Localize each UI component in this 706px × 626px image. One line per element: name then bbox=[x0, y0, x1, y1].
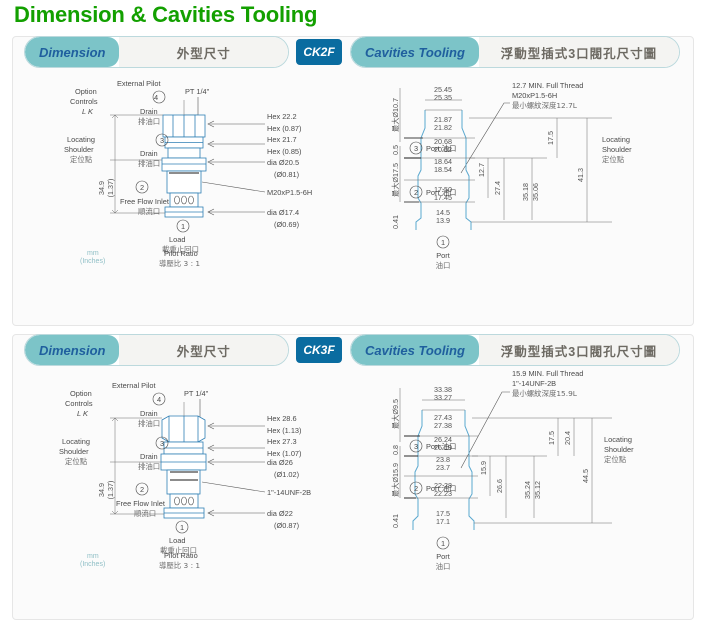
cav2-left-label-3: 0.41 bbox=[391, 514, 400, 528]
cav-port1-number: 1 bbox=[441, 238, 445, 247]
cav2-depth-6: 44.5 bbox=[581, 469, 590, 483]
port3-number: 3 bbox=[160, 136, 164, 145]
cav-locating-cn: 定位點 bbox=[602, 155, 625, 164]
cav2-locating-en-2: Shoulder bbox=[604, 445, 634, 454]
port2-number-2: 2 bbox=[140, 485, 144, 494]
port4-en-label: Drain bbox=[140, 107, 158, 116]
cav-left-label-0: 最大Ø10.7 bbox=[391, 98, 400, 132]
right-label-8-2: (Ø0.87) bbox=[274, 521, 299, 530]
tab-dimension-en-1[interactable]: Dimension bbox=[25, 37, 119, 67]
tabbar-ck2f: Dimension 外型尺寸 CK2F Cavities Tooling 浮動型… bbox=[12, 36, 694, 70]
dimension-drawing-ck2f: External Pilot 4 Drain 排油口 PT 1/4" bbox=[64, 79, 312, 268]
thread-note-2-2: 1"-14UNF-2B bbox=[512, 379, 556, 388]
valve-body-ck3f bbox=[161, 402, 206, 518]
cav-left-label-1: 0.5 bbox=[391, 145, 400, 155]
unit-mm-label: mm bbox=[87, 250, 99, 257]
cav-depth-0: 12.7 bbox=[477, 163, 486, 177]
cav2-port3-number: 3 bbox=[414, 442, 418, 451]
port4-number: 4 bbox=[154, 93, 158, 102]
pt-thread-label-2: PT 1/4" bbox=[184, 389, 209, 398]
right-label-4: dia Ø20.5 bbox=[267, 158, 299, 167]
right-label-6-2: 1"-14UNF-2B bbox=[267, 488, 311, 497]
cav2-width-4b: 22.23 bbox=[434, 489, 452, 498]
cav-port1-cn: 油口 bbox=[436, 261, 451, 270]
cav2-locating-en-1: Locating bbox=[604, 435, 632, 444]
cav2-width-1b: 27.38 bbox=[434, 421, 452, 430]
right-label-5-2: (Ø1.02) bbox=[274, 470, 299, 479]
cav2-depth-1: 26.6 bbox=[495, 479, 504, 493]
cav2-locating-cn: 定位點 bbox=[604, 455, 627, 464]
port2-en-label: Free Flow Inlet bbox=[120, 197, 169, 206]
locating-label-2: Shoulder bbox=[64, 145, 94, 154]
cav2-depth-3: 35.12 bbox=[533, 481, 542, 499]
port3-en-label: Drain bbox=[140, 149, 158, 158]
right-label-2: Hex 21.7 bbox=[267, 135, 297, 144]
cav-locating-en-1: Locating bbox=[602, 135, 630, 144]
drawing-svg-ck2f: External Pilot 4 Drain 排油口 PT 1/4" bbox=[12, 70, 694, 322]
cav-width-1b: 21.82 bbox=[434, 123, 452, 132]
tab-dimension-cn-1[interactable]: 外型尺寸 bbox=[119, 37, 288, 67]
tab-cavities-cn-1[interactable]: 浮動型插式3口閥孔尺寸圖 bbox=[479, 37, 679, 67]
pilot-ratio-cn: 導壓比 3 : 1 bbox=[159, 259, 200, 268]
tab-dimension-en-2[interactable]: Dimension bbox=[25, 335, 119, 365]
cav2-depth-5: 20.4 bbox=[563, 431, 572, 445]
cav-depth-5: 41.3 bbox=[576, 168, 585, 182]
pilot-ratio-en-2: Pilot Ratio bbox=[164, 551, 198, 560]
model-badge-ck3f[interactable]: CK3F bbox=[296, 337, 342, 363]
cav-port3-number: 3 bbox=[414, 144, 418, 153]
cav2-port1-cn: 油口 bbox=[436, 562, 451, 571]
cav-width-4b: 17.45 bbox=[434, 193, 452, 202]
right-label-0: Hex 22.2 bbox=[267, 112, 297, 121]
page-title: Dimension & Cavities Tooling bbox=[14, 2, 317, 28]
right-label-8: (Ø0.69) bbox=[274, 220, 299, 229]
cav2-depth-0: 15.9 bbox=[479, 461, 488, 475]
height-mm-label-2: 34.9 bbox=[97, 483, 106, 497]
cav2-port2-number: 2 bbox=[414, 484, 418, 493]
port4-cn-label-2: 排油口 bbox=[138, 419, 160, 428]
option-label-1: Option bbox=[75, 87, 97, 96]
port1-number: 1 bbox=[181, 222, 185, 231]
thread-section-2 bbox=[167, 470, 200, 494]
port1-number-2: 1 bbox=[180, 523, 184, 532]
shoulder-ring bbox=[162, 158, 206, 171]
port4-en-label-2: Drain bbox=[140, 409, 158, 418]
right-label-6: M20xP1.5-6H bbox=[267, 188, 312, 197]
port2-cn-label: 順流口 bbox=[138, 207, 160, 216]
locating-label-1-2: Locating bbox=[62, 437, 90, 446]
cav2-left-label-2: 最大Ø15.9 bbox=[391, 463, 400, 497]
right-label-5: (Ø0.81) bbox=[274, 170, 299, 179]
hex-nut-top-2 bbox=[162, 416, 205, 442]
port4-number-2: 4 bbox=[157, 395, 161, 404]
height-mm-label: 34.9 bbox=[97, 181, 106, 195]
tab-dimension-group-2[interactable]: Dimension 外型尺寸 bbox=[24, 334, 289, 366]
option-label-2-2: Controls bbox=[65, 399, 93, 408]
cav2-left-label-0: 最大Ø9.5 bbox=[391, 399, 400, 429]
right-label-0-2: Hex 28.6 bbox=[267, 414, 297, 423]
option-label-1-2: Option bbox=[70, 389, 92, 398]
cav-width-3b: 18.54 bbox=[434, 165, 452, 174]
right-label-7-2: dia Ø22 bbox=[267, 509, 293, 518]
cav-width-5b: 13.9 bbox=[436, 216, 450, 225]
thread-note-1-2: 15.9 MIN. Full Thread bbox=[512, 369, 583, 378]
option-label-2: Controls bbox=[70, 97, 98, 106]
locating-label-cn-2: 定位點 bbox=[65, 457, 88, 466]
right-label-1-2: Hex (1.13) bbox=[267, 426, 302, 435]
cav2-width-3b: 23.7 bbox=[436, 463, 450, 472]
tab-cavities-group-2[interactable]: Cavities Tooling 浮動型插式3口閥孔尺寸圖 bbox=[350, 334, 680, 366]
cav-width-2b: 20.62 bbox=[434, 145, 452, 154]
right-label-3-2: Hex (1.07) bbox=[267, 449, 302, 458]
cav2-width-5b: 17.1 bbox=[436, 517, 450, 526]
right-label-4-2: dia Ø26 bbox=[267, 458, 293, 467]
drawing-area-ck3f: External Pilot 4 Drain 排油口 PT 1/4" bbox=[12, 368, 694, 620]
thread-note-3: 最小螺紋深度12.7L bbox=[512, 101, 578, 110]
cav-width-0b: 25.35 bbox=[434, 93, 452, 102]
cav2-left-label-1: 0.8 bbox=[391, 445, 400, 455]
cav2-depth-4: 17.5 bbox=[547, 431, 556, 445]
unit-in-label-2: (Inches) bbox=[80, 561, 105, 568]
tab-cavities-en-2[interactable]: Cavities Tooling bbox=[351, 335, 479, 365]
cav2-width-2b: 26.19 bbox=[434, 443, 452, 452]
model-badge-ck2f[interactable]: CK2F bbox=[296, 39, 342, 65]
thread-leader-line-2 bbox=[461, 392, 510, 468]
port2-cn-label-2: 順流口 bbox=[134, 509, 156, 518]
cav-left-label-3: 0.41 bbox=[391, 215, 400, 229]
thread-section bbox=[167, 171, 201, 193]
locating-label-1: Locating bbox=[67, 135, 95, 144]
port3-cn-label: 排油口 bbox=[138, 159, 160, 168]
port3-number-2: 3 bbox=[160, 439, 164, 448]
port2-number: 2 bbox=[140, 183, 144, 192]
cav-left-label-2: 最大Ø17.5 bbox=[391, 163, 400, 197]
port1-en-label-2: Load bbox=[169, 536, 185, 545]
tab-cavities-en-1[interactable]: Cavities Tooling bbox=[351, 37, 479, 67]
cav-locating-en-2: Shoulder bbox=[602, 145, 632, 154]
cav-depth-3: 35.06 bbox=[531, 183, 540, 201]
pilot-ratio-en: Pilot Ratio bbox=[164, 249, 198, 258]
drawing-svg-ck3f: External Pilot 4 Drain 排油口 PT 1/4" bbox=[12, 368, 694, 620]
tab-dimension-group-1[interactable]: Dimension 外型尺寸 bbox=[24, 36, 289, 68]
cavity-drawing-ck2f: 12.7 MIN. Full Thread M20xP1.5-6H 最小螺紋深度… bbox=[391, 81, 632, 270]
option-label-3-2: L K bbox=[77, 409, 89, 418]
pt-thread-label: PT 1/4" bbox=[185, 87, 210, 96]
cav2-port1-en: Port bbox=[436, 552, 450, 561]
neck-1 bbox=[168, 148, 200, 158]
tab-dimension-cn-2[interactable]: 外型尺寸 bbox=[119, 335, 288, 365]
unit-in-label: (Inches) bbox=[80, 258, 105, 265]
cav-depth-1: 27.4 bbox=[493, 181, 502, 195]
tab-cavities-group-1[interactable]: Cavities Tooling 浮動型插式3口閥孔尺寸圖 bbox=[350, 36, 680, 68]
drawing-area-ck2f: External Pilot 4 Drain 排油口 PT 1/4" bbox=[12, 70, 694, 322]
tab-cavities-cn-2[interactable]: 浮動型插式3口閥孔尺寸圖 bbox=[479, 335, 679, 365]
cav-depth-2: 35.18 bbox=[521, 183, 530, 201]
right-label-1: Hex (0.87) bbox=[267, 124, 302, 133]
right-label-7: dia Ø17.4 bbox=[267, 208, 299, 217]
unit-mm-label-2: mm bbox=[87, 553, 99, 560]
external-pilot-label: External Pilot bbox=[117, 79, 161, 88]
dimension-drawing-ck3f: External Pilot 4 Drain 排油口 PT 1/4" bbox=[59, 381, 311, 570]
thread-note-2: M20xP1.5-6H bbox=[512, 91, 557, 100]
height-in-label: (1.37) bbox=[106, 179, 115, 198]
external-pilot-label-2: External Pilot bbox=[112, 381, 156, 390]
cav2-width-0b: 33.27 bbox=[434, 393, 452, 402]
right-label-3: Hex (0.85) bbox=[267, 147, 302, 156]
option-label-3: L K bbox=[82, 107, 94, 116]
cav-depth-4: 17.5 bbox=[546, 131, 555, 145]
pt-leader-line bbox=[184, 97, 198, 115]
thread-note-1: 12.7 MIN. Full Thread bbox=[512, 81, 583, 90]
port3-en-label-2: Drain bbox=[140, 452, 158, 461]
cav2-depth-2: 35.24 bbox=[523, 481, 532, 499]
port3-cn-label-2: 排油口 bbox=[138, 462, 160, 471]
pilot-ratio-cn-2: 導壓比 3 : 1 bbox=[159, 561, 200, 570]
port2-en-label-2: Free Flow Inlet bbox=[116, 499, 165, 508]
thread-note-3-2: 最小螺紋深度15.9L bbox=[512, 389, 578, 398]
cav2-port1-number: 1 bbox=[441, 539, 445, 548]
tabbar-ck3f: Dimension 外型尺寸 CK3F Cavities Tooling 浮動型… bbox=[12, 334, 694, 368]
right-label-2-2: Hex 27.3 bbox=[267, 437, 297, 446]
height-in-label-2: (1.37) bbox=[106, 481, 115, 500]
locating-label-2-2: Shoulder bbox=[59, 447, 89, 456]
cav-port2-number: 2 bbox=[414, 188, 418, 197]
cav-port1-en: Port bbox=[436, 251, 450, 260]
panel-ck3f: Dimension 外型尺寸 CK3F Cavities Tooling 浮動型… bbox=[12, 334, 694, 620]
panel-ck2f: Dimension 外型尺寸 CK2F Cavities Tooling 浮動型… bbox=[12, 36, 694, 326]
locating-label-cn: 定位點 bbox=[70, 155, 93, 164]
cavity-drawing-ck3f: 15.9 MIN. Full Thread 1"-14UNF-2B 最小螺紋深度… bbox=[391, 369, 634, 571]
port1-en-label: Load bbox=[169, 235, 185, 244]
port4-cn-label: 排油口 bbox=[138, 117, 160, 126]
